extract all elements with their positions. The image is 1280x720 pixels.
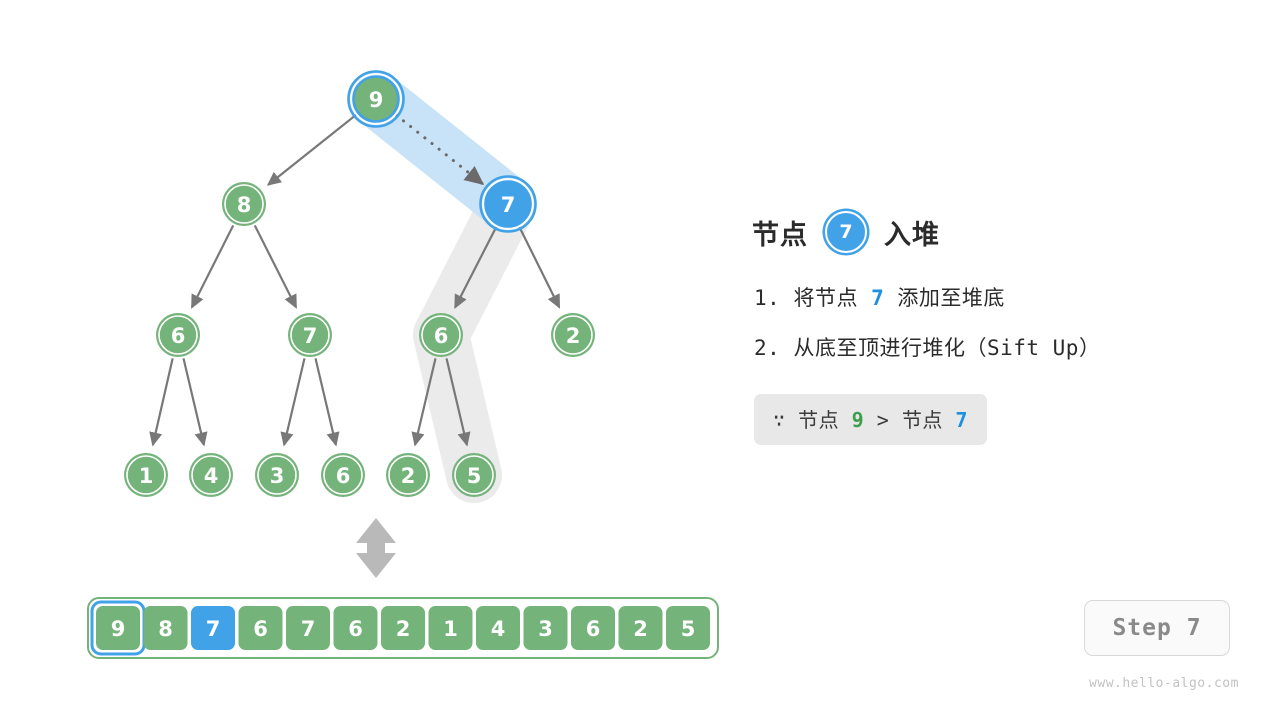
array-cell-label: 1: [443, 617, 458, 641]
tree-node-label: 6: [336, 464, 351, 488]
step-text-pre: 将节点: [793, 286, 858, 310]
conclusion-left-label: 节点: [798, 408, 839, 432]
array-cell-label: 2: [396, 617, 411, 641]
step-item: 2. 从底至顶进行堆化（Sift Up）: [754, 332, 1274, 362]
conclusion-box: ∵ 节点 9 > 节点 7: [754, 394, 987, 445]
tree-node-label: 2: [566, 324, 581, 348]
conclusion-operator: >: [877, 408, 890, 432]
because-symbol: ∵: [773, 408, 786, 432]
tree-node-label: 3: [270, 464, 285, 488]
tree-node-label: 6: [434, 324, 449, 348]
array-cell-label: 6: [586, 617, 601, 641]
step-list: 1. 将节点 7 添加至堆底 2. 从底至顶进行堆化（Sift Up）: [754, 282, 1274, 382]
watermark: www.hello-algo.com: [1074, 676, 1254, 691]
step-highlight-value: 7: [871, 286, 884, 310]
panel-title: 节点 7 入堆: [752, 208, 940, 256]
panel-title-suffix: 入堆: [884, 213, 940, 252]
tree-node-label: 4: [204, 464, 219, 488]
step-badge: Step 7: [1084, 600, 1230, 656]
array-cell-label: 9: [111, 617, 126, 641]
tree-node-label: 1: [139, 464, 154, 488]
watermark-text: www.hello-algo.com: [1089, 676, 1239, 691]
tree-nodes: 9876762143625: [124, 72, 595, 498]
step-text-pre: 从底至顶进行堆化（Sift Up）: [793, 336, 1100, 360]
tree-node-label: 2: [401, 464, 416, 488]
step-text-post: 添加至堆底: [897, 286, 1005, 310]
panel-title-node-badge: 7: [825, 211, 867, 253]
array-cell-label: 6: [348, 617, 363, 641]
binary-tree-diagram: 9876762143625 9876762143625: [0, 0, 740, 720]
array-cell-label: 8: [158, 617, 173, 641]
tree-node-label: 5: [467, 464, 482, 488]
visualization-stage: 9876762143625 9876762143625: [0, 0, 740, 720]
tree-node-label: 7: [303, 324, 318, 348]
step-index: 2.: [754, 336, 780, 360]
tree-node-label: 9: [369, 88, 384, 112]
conclusion-left-value: 9: [852, 408, 865, 432]
tree-node-label: 7: [501, 193, 516, 217]
conclusion-right-label: 节点: [902, 408, 943, 432]
up-down-arrow-icon: [356, 518, 396, 578]
array-cell-label: 7: [301, 617, 316, 641]
tree-node-label: 8: [237, 193, 252, 217]
array-representation: 9876762143625: [88, 598, 718, 658]
array-cell-label: 5: [681, 617, 696, 641]
array-cell-label: 4: [491, 617, 506, 641]
step-item: 1. 将节点 7 添加至堆底: [754, 282, 1274, 312]
step-badge-label: Step 7: [1112, 615, 1201, 641]
conclusion-right-value: 7: [955, 408, 968, 432]
panel-title-prefix: 节点: [752, 213, 808, 252]
step-index: 1.: [754, 286, 780, 310]
array-cell-label: 2: [633, 617, 648, 641]
array-cell-label: 6: [253, 617, 268, 641]
array-cell-label: 3: [538, 617, 553, 641]
tree-node-label: 6: [171, 324, 186, 348]
array-cell-label: 7: [206, 617, 221, 641]
